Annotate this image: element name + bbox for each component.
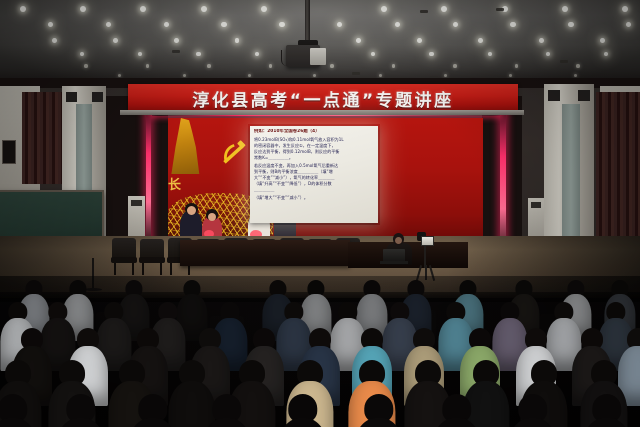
- ceiling-downlight: [201, 6, 207, 12]
- audience-person: [54, 394, 108, 427]
- audience-person-shoulders: [276, 418, 330, 427]
- ceiling-downlight: [539, 38, 544, 43]
- ceiling-downlight: [279, 22, 284, 27]
- curtain-left: [22, 92, 62, 184]
- ceiling-downlight: [379, 74, 382, 77]
- audience-person-shoulders: [200, 418, 254, 427]
- ceiling-downlight: [330, 64, 334, 68]
- stage-chair-leg: [114, 263, 116, 275]
- ceiling-downlight: [84, 64, 88, 68]
- audience-person: [276, 394, 330, 427]
- audience-person-shoulders: [506, 418, 560, 427]
- audience-person-shoulders: [126, 418, 180, 427]
- monument-graphic: [168, 118, 202, 174]
- ceiling-downlight: [417, 38, 422, 43]
- ceiling-vent: [560, 60, 568, 63]
- laptop-base: [380, 261, 408, 264]
- neon-strip-right: [500, 104, 506, 254]
- banner-rail: [120, 110, 524, 115]
- curtain-right: [596, 92, 640, 242]
- ceiling-downlight: [118, 74, 121, 77]
- ceiling-downlight: [429, 52, 433, 56]
- projector-lens: [310, 48, 326, 65]
- slide-line: 常数K=＿＿＿＿＿。: [254, 155, 374, 161]
- projector-cable: [281, 50, 288, 66]
- audience-person-shoulders: [352, 418, 406, 427]
- ceiling-shading: [0, 0, 640, 86]
- ceiling-downlight: [261, 6, 267, 12]
- ceiling-vent: [420, 10, 428, 13]
- ceiling-downlight: [444, 74, 447, 77]
- audience-person-shoulders: [54, 418, 108, 427]
- slide-content: 例如：2010年全国卷26题（4） 将0.23molB(SO₃)和0.11mol…: [254, 129, 374, 220]
- ceiling-downlight: [52, 38, 57, 43]
- camera-screen: [421, 236, 434, 246]
- ceiling-downlight: [174, 38, 179, 43]
- audience-person: [352, 394, 406, 427]
- audience-person-shoulders: [0, 418, 40, 427]
- stage-chair-leg: [132, 263, 134, 275]
- audience-person-shoulders: [430, 418, 484, 427]
- air-conditioner-right-vent: [531, 202, 541, 208]
- stage-chair: [140, 239, 164, 259]
- ceiling-vent: [172, 50, 180, 53]
- wall-picture-frame: [2, 140, 16, 164]
- air-conditioner-left-vent: [131, 200, 142, 206]
- ceiling-downlight: [600, 38, 605, 43]
- ceiling-downlight: [20, 6, 26, 12]
- slide-line: （填“增大”“不变”“减小”）。: [254, 195, 374, 201]
- speaker-face: [395, 237, 402, 244]
- projection-screen: 例如：2010年全国卷26题（4） 将0.23molB(SO₃)和0.11mol…: [250, 126, 378, 223]
- ceiling-downlight: [622, 6, 628, 12]
- ceiling-downlight: [255, 52, 259, 56]
- ceiling-downlight: [488, 52, 492, 56]
- pillar-right-square-top-a: [548, 90, 560, 101]
- banner-text: 淳化县高考“一点通”专题讲座: [192, 86, 453, 111]
- audience: [0, 276, 640, 427]
- neon-strip-left: [146, 104, 151, 244]
- pillar-left-square-top-b: [92, 92, 103, 102]
- ceiling-vent: [352, 72, 360, 75]
- ceiling-downlight: [576, 64, 580, 68]
- poster-person-1-face: [187, 206, 196, 215]
- slide-heading: 例如：2010年全国卷26题（4）: [254, 129, 374, 135]
- ceiling-downlight: [574, 74, 577, 77]
- stage-chair-leg: [170, 263, 172, 275]
- ceiling-downlight: [515, 64, 519, 68]
- ceiling-downlight: [478, 38, 483, 43]
- audience-person: [506, 394, 560, 427]
- stage-chair-leg: [142, 263, 144, 275]
- pillar-right-square-top-b: [578, 90, 590, 101]
- hammer-and-sickle-icon: [220, 140, 246, 166]
- audience-person: [126, 394, 180, 427]
- ceiling-downlight: [568, 22, 573, 27]
- ceiling-downlight: [453, 64, 457, 68]
- ceiling-downlight: [113, 38, 118, 43]
- ceiling-downlight: [196, 52, 200, 56]
- audience-person: [200, 394, 254, 427]
- lecture-hall-photo: 淳化县高考“一点通”专题讲座 ❧ ❧ ❧ 长: [0, 0, 640, 427]
- ceiling-downlight: [392, 64, 396, 68]
- pillar-left-square-top-a: [66, 92, 77, 102]
- event-banner: 淳化县高考“一点通”专题讲座: [128, 84, 518, 112]
- audience-person: [580, 394, 634, 427]
- ceiling-downlight: [269, 64, 273, 68]
- ceiling-downlight: [509, 74, 512, 77]
- ceiling-downlight: [146, 64, 150, 68]
- ceiling-downlight: [356, 38, 361, 43]
- projector-pole: [305, 0, 310, 44]
- ceiling-downlight: [562, 6, 568, 12]
- slide-line: ＿＿＿＿＿: [254, 187, 374, 193]
- audience-person: [430, 394, 484, 427]
- stage-chair: [112, 238, 136, 258]
- ceiling-vent: [496, 8, 504, 11]
- poster-person-2-face: [208, 213, 216, 221]
- head-table: [180, 240, 350, 266]
- stage-chair-leg: [160, 263, 162, 275]
- ceiling-downlight: [207, 64, 211, 68]
- audience-person-shoulders: [580, 418, 634, 427]
- audience-person: [0, 394, 40, 427]
